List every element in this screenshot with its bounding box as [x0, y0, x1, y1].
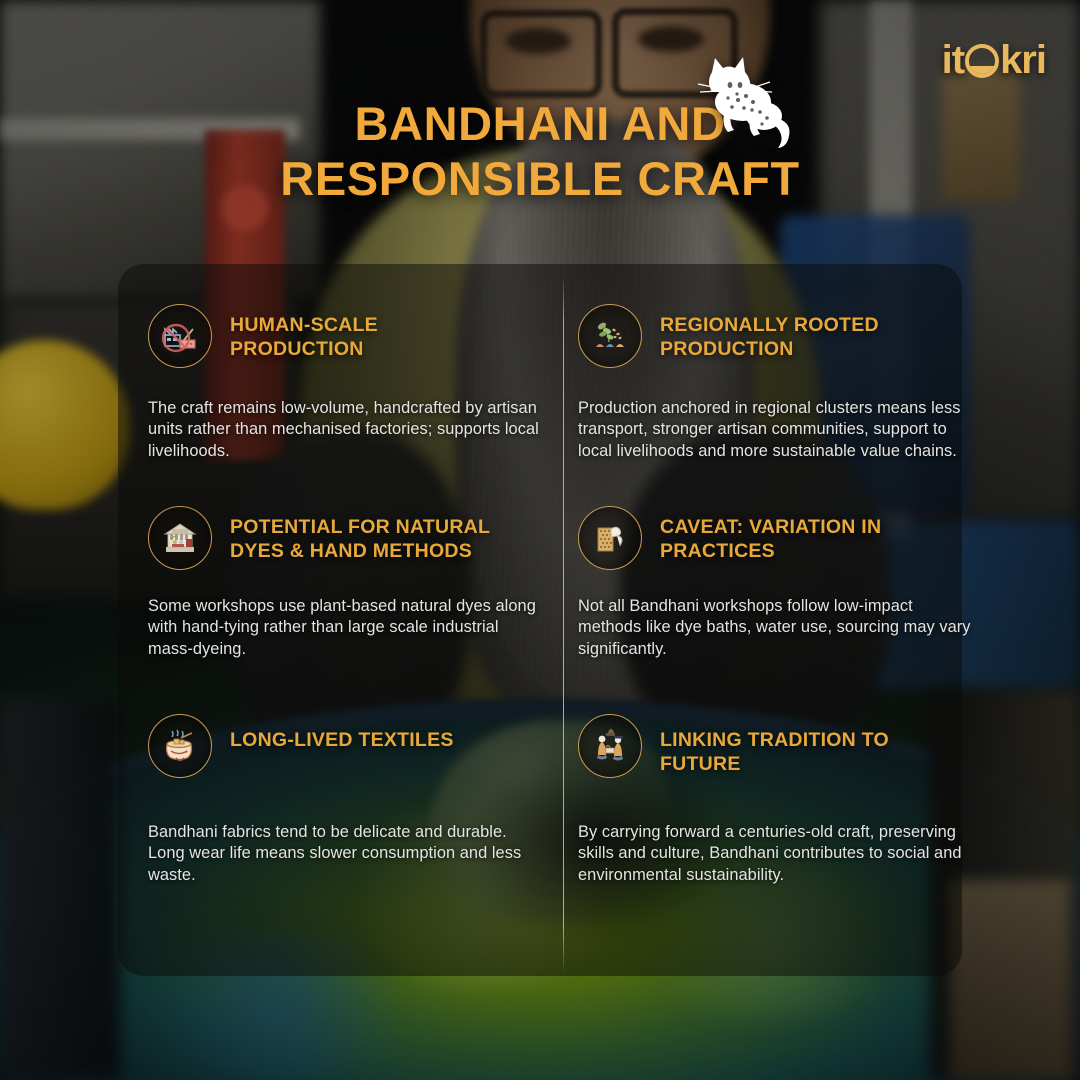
logo-text-tail: kri	[1000, 38, 1046, 83]
feature-heading: LONG-LIVED TEXTILES	[230, 714, 454, 752]
feature-body: The craft remains low-volume, handcrafte…	[148, 398, 540, 462]
feature-item: LINKING TRADITION TO FUTURE By carrying …	[578, 714, 978, 886]
hand-holding-fabric-swatch-icon	[578, 506, 642, 570]
logo-text-lead: it	[942, 38, 964, 83]
feature-item: REGIONALLY ROOTED PRODUCTION Production …	[578, 304, 978, 462]
feature-body: Bandhani fabrics tend to be delicate and…	[148, 822, 540, 886]
feature-body: Production anchored in regional clusters…	[578, 398, 978, 462]
feature-heading: CAVEAT: VARIATION IN PRACTICES	[660, 506, 922, 563]
itokri-logo[interactable]: itkri	[942, 38, 1046, 83]
feature-item: CAVEAT: VARIATION IN PRACTICES Not all B…	[578, 506, 978, 660]
infographic-canvas: itkri BANDHANI AND RESPONSIBLE CRAFT	[0, 0, 1080, 1080]
feature-item: POTENTIAL FOR NATURAL DYES & HAND METHOD…	[148, 506, 548, 660]
logo-basket-icon	[965, 44, 999, 78]
page-title: BANDHANI AND RESPONSIBLE CRAFT	[0, 96, 1080, 207]
feature-heading: POTENTIAL FOR NATURAL DYES & HAND METHOD…	[230, 506, 502, 563]
cat-illustration-icon	[688, 52, 800, 156]
page-title-line-1: BANDHANI AND	[355, 97, 726, 150]
feature-body: By carrying forward a centuries-old craf…	[578, 822, 978, 886]
feature-heading: LINKING TRADITION TO FUTURE	[660, 714, 922, 776]
no-factory-icon	[148, 304, 212, 368]
feature-item: LONG-LIVED TEXTILES Bandhani fabrics ten…	[148, 714, 548, 886]
feature-body: Not all Bandhani workshops follow low-im…	[578, 596, 978, 660]
feature-heading: REGIONALLY ROOTED PRODUCTION	[660, 304, 922, 361]
feature-body: Some workshops use plant-based natural d…	[148, 596, 540, 660]
two-artisans-icon	[578, 714, 642, 778]
features-grid: HUMAN-SCALE PRODUCTION The craft remains…	[118, 264, 962, 976]
feature-item: HUMAN-SCALE PRODUCTION The craft remains…	[148, 304, 548, 462]
page-title-line-2: RESPONSIBLE CRAFT	[0, 151, 1080, 206]
steaming-dye-pot-icon	[148, 714, 212, 778]
feature-heading: HUMAN-SCALE PRODUCTION	[230, 304, 502, 361]
workshop-shop-icon	[148, 506, 212, 570]
seedling-soil-icon	[578, 304, 642, 368]
